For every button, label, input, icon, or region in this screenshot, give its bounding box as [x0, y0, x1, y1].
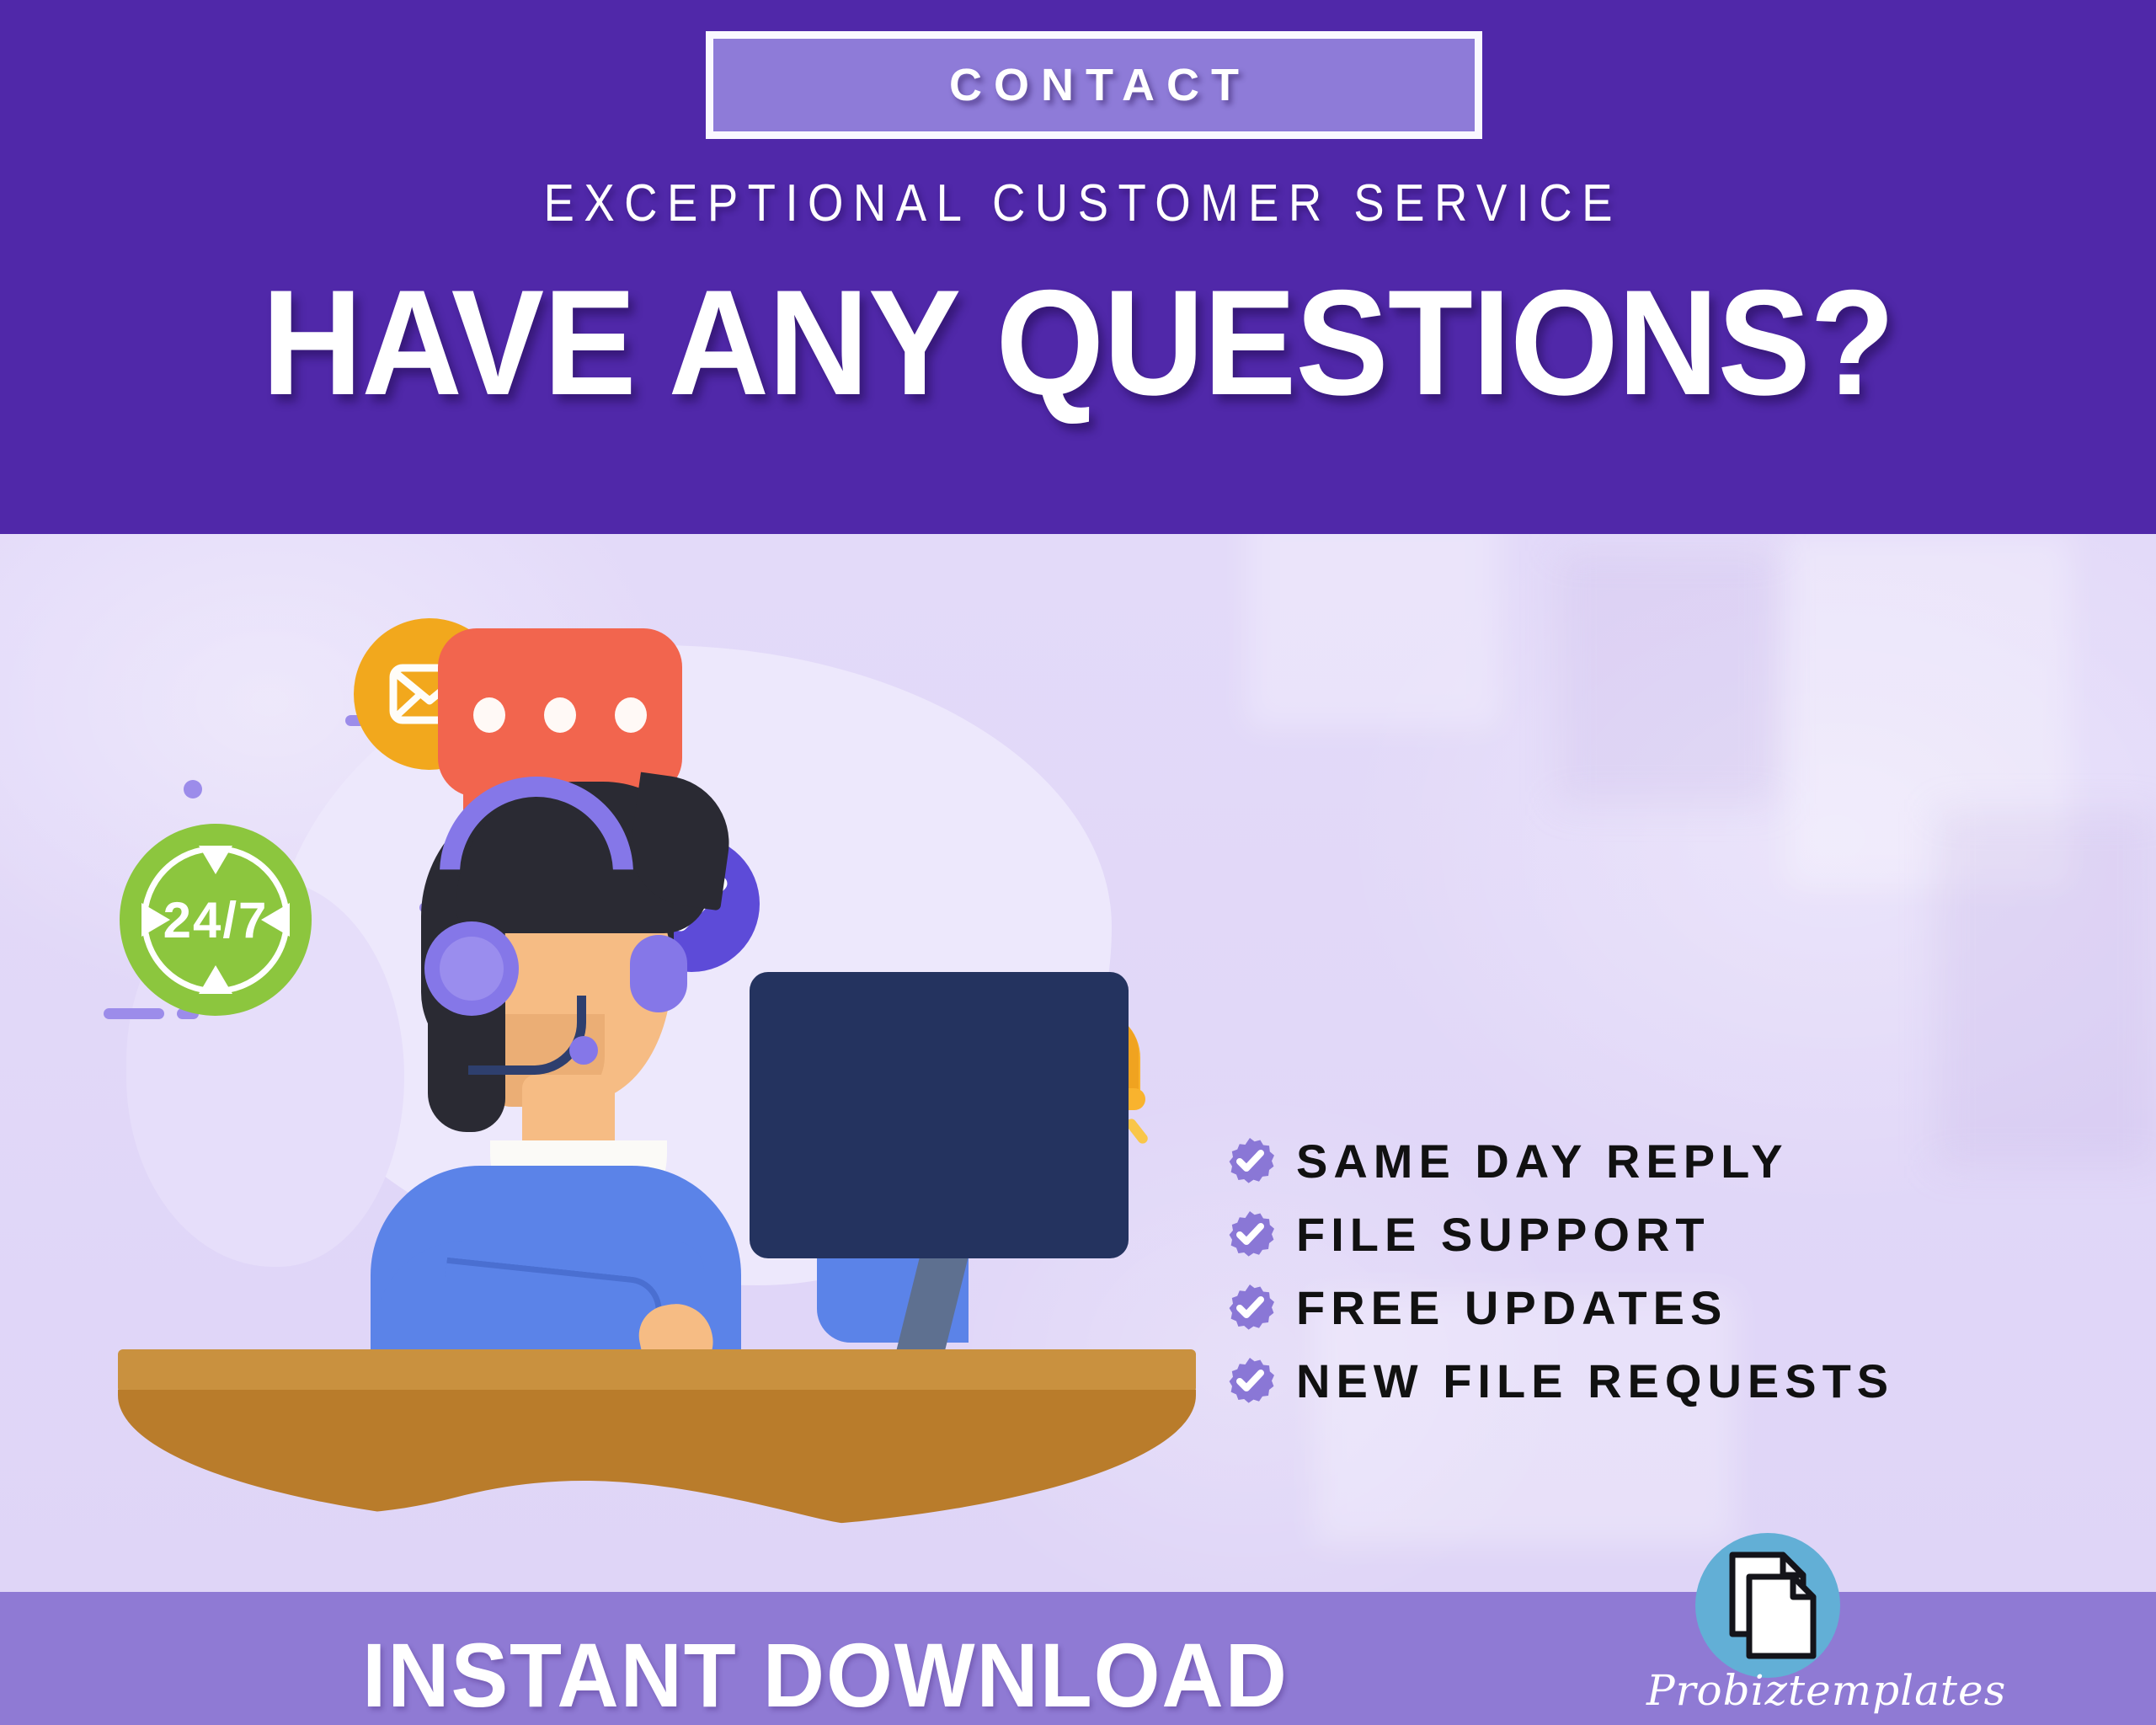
header-banner: CONTACT EXCEPTIONAL CUSTOMER SERVICE HAV…: [0, 0, 2156, 534]
contact-badge-label: CONTACT: [937, 59, 1251, 111]
chat-dot-icon: [473, 697, 505, 733]
headset-earcup-right: [630, 935, 687, 1012]
feature-label: FREE UPDATES: [1296, 1280, 1727, 1335]
feature-label: NEW FILE REQUESTS: [1296, 1354, 1894, 1408]
headset-microphone-tip: [569, 1036, 598, 1065]
desk-front-panel: [118, 1390, 1196, 1531]
chat-dot-icon: [544, 697, 576, 733]
brand-block: Probiztemplates: [1655, 1533, 1992, 1725]
headline: HAVE ANY QUESTIONS?: [76, 268, 2081, 418]
contact-badge: CONTACT: [706, 31, 1482, 139]
check-seal-icon: [1225, 1357, 1274, 1406]
feature-item: NEW FILE REQUESTS: [1225, 1354, 2076, 1408]
feature-label: FILE SUPPORT: [1296, 1207, 1710, 1262]
subheadline: EXCEPTIONAL CUSTOMER SERVICE: [130, 174, 2027, 233]
check-seal-icon: [1225, 1210, 1274, 1259]
brand-name: Probiztemplates: [1646, 1666, 2000, 1715]
desk: [118, 1349, 1196, 1535]
documents-icon: [1695, 1533, 1840, 1678]
headset-earcup-inner: [440, 937, 504, 1001]
clock-notch-icon: [199, 846, 232, 874]
poster-canvas: CONTACT EXCEPTIONAL CUSTOMER SERVICE HAV…: [0, 0, 2156, 1725]
chat-dot-icon: [615, 697, 647, 733]
brand-logo: [1695, 1533, 1840, 1678]
feature-item: FILE SUPPORT: [1225, 1207, 2076, 1262]
decor-dash: [104, 1008, 164, 1019]
support-agent-figure: [396, 770, 935, 1393]
availability-badge-label: 24/7: [163, 891, 269, 949]
bg-texture: [1937, 812, 2156, 1166]
feature-label: SAME DAY REPLY: [1296, 1134, 1789, 1188]
availability-badge: 24/7: [120, 824, 312, 1016]
feature-list: SAME DAY REPLY FILE SUPPORT: [1225, 1134, 2076, 1427]
bg-texture: [1558, 551, 1777, 804]
instant-download-label: INSTANT DOWNLOAD: [50, 1622, 1601, 1725]
bg-texture: [1246, 534, 1499, 728]
decor-dot: [184, 780, 202, 798]
desk-surface: [118, 1349, 1196, 1393]
check-seal-icon: [1225, 1137, 1274, 1186]
clock-notch-icon: [199, 965, 232, 994]
customer-support-illustration: 24/7: [101, 534, 1213, 1592]
content-stage: 24/7: [0, 534, 2156, 1592]
check-seal-icon: [1225, 1284, 1274, 1332]
feature-item: SAME DAY REPLY: [1225, 1134, 2076, 1188]
feature-item: FREE UPDATES: [1225, 1280, 2076, 1335]
